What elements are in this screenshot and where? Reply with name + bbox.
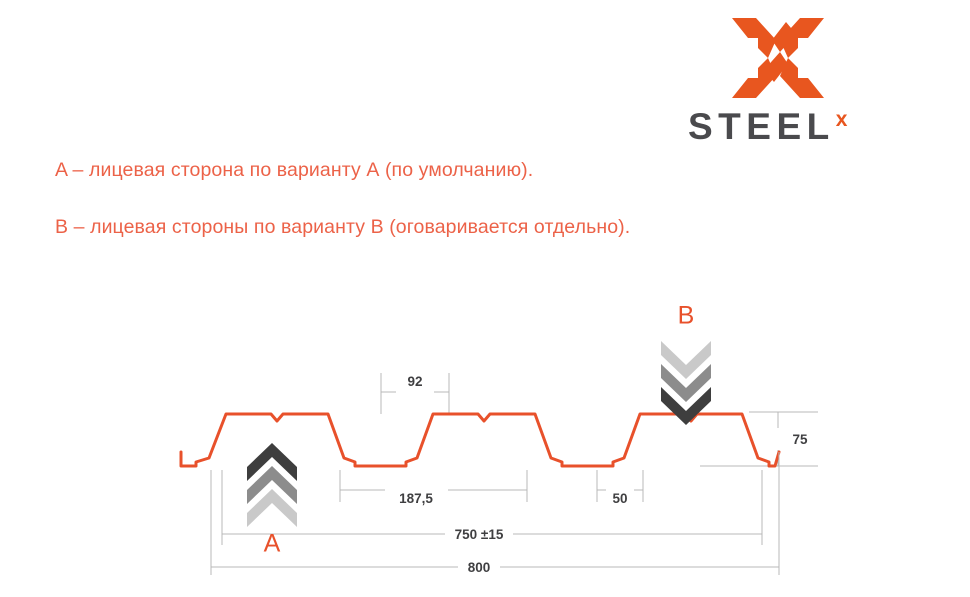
dimension-label-92: 92 [407,374,422,389]
marker-a-label: A [264,530,281,558]
marker-b-label: B [678,302,695,330]
dimension-label-75: 75 [792,432,808,447]
dimension-label-800: 800 [468,560,491,575]
marker-b: B [661,302,711,425]
dimension-label-187-5: 187,5 [399,491,433,506]
profile-technical-drawing: 92 75 187,5 50 750 ±15 [0,0,970,597]
dimension-label-50: 50 [612,491,627,506]
dimension-valley: 50 [597,470,643,506]
dimension-pitch: 187,5 [340,470,527,506]
dimension-label-750: 750 ±15 [455,527,504,542]
chevron-down-stack-icon [661,341,711,425]
dimension-top-flange: 92 [381,373,449,414]
chevron-up-stack-icon [247,443,297,527]
marker-a: A [247,443,297,558]
dimension-useful-width: 750 ±15 [222,470,762,545]
